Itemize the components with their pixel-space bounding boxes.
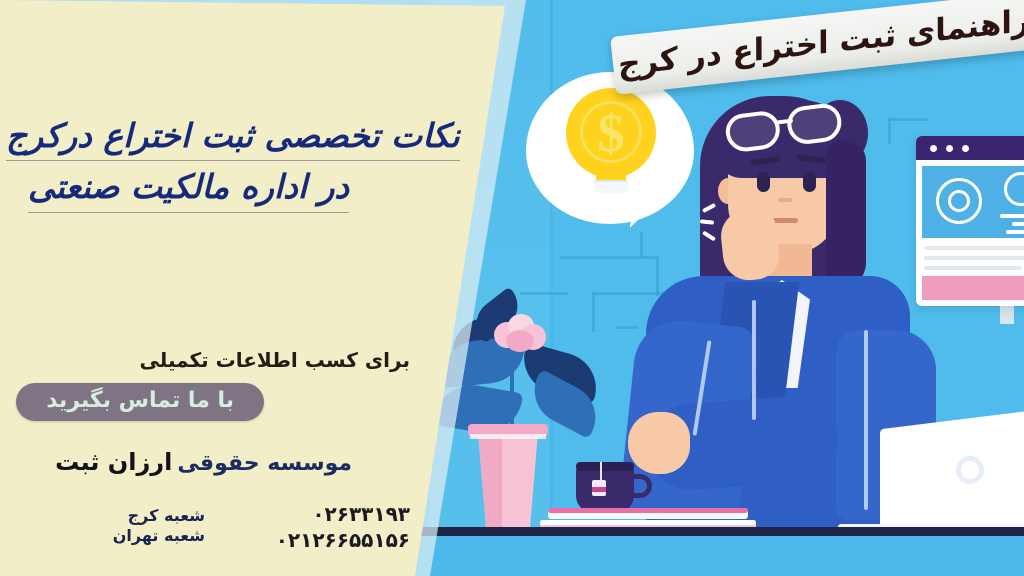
window-text-line xyxy=(924,266,1022,270)
window-text-line xyxy=(1000,214,1024,218)
blueprint-line xyxy=(520,292,568,295)
plant-pot-rim-highlight xyxy=(470,434,546,439)
window-text-line xyxy=(924,256,1024,260)
phone-tehran[interactable]: ۰۲۱۲۶۶۵۵۱۵۶ xyxy=(276,528,410,554)
blueprint-line xyxy=(640,232,643,258)
woman-eye-right xyxy=(803,172,816,192)
gear-icon-inner xyxy=(948,190,970,212)
jacket-seam xyxy=(864,330,868,510)
lightbulb-icon: $ xyxy=(566,88,656,192)
window-text-line xyxy=(1006,230,1024,234)
window-accent-bar xyxy=(922,276,1024,300)
woman-hand-resting xyxy=(628,412,690,474)
browser-window-graphic xyxy=(916,136,1024,306)
blueprint-line xyxy=(592,292,595,332)
branch-label-karaj: شعبه کرج xyxy=(113,506,205,526)
woman-eye-left xyxy=(757,172,770,192)
blueprint-line xyxy=(888,118,891,144)
window-dot-icon xyxy=(930,145,937,152)
cta-subtitle: برای کسب اطلاعات تکمیلی xyxy=(140,348,410,372)
brand-prefix: موسسه حقوقی xyxy=(177,451,352,476)
desk-floor xyxy=(392,536,1024,576)
window-text-line xyxy=(1012,222,1024,226)
window-text-line xyxy=(924,246,1024,250)
brand-name: ارزان ثبت xyxy=(55,448,172,476)
contact-us-button[interactable]: با ما تماس بگیرید xyxy=(16,383,264,421)
window-hero-area xyxy=(922,166,1024,238)
book-edge xyxy=(540,520,756,525)
jacket-seam xyxy=(752,300,756,420)
branch-labels: شعبه کرج شعبه تهران xyxy=(113,506,205,545)
dollar-symbol: $ xyxy=(566,88,656,178)
window-dot-icon xyxy=(946,145,953,152)
tea-bag-string xyxy=(600,462,602,482)
window-dot-icon xyxy=(962,145,969,152)
woman-hair-side xyxy=(826,140,866,290)
blueprint-line xyxy=(616,326,638,329)
phone-karaj[interactable]: ۰۲۶۳۳۱۹۳ xyxy=(276,502,410,528)
branch-label-tehran: شعبه تهران xyxy=(113,526,205,546)
coffee-cup-rim xyxy=(576,462,634,471)
speech-bubble-tail xyxy=(630,194,660,231)
brand-block: موسسه حقوقی ارزان ثبت xyxy=(55,448,352,476)
headline-line-2: در اداره مالکیت صنعتی xyxy=(28,167,349,212)
blueprint-line xyxy=(888,118,928,121)
gear-icon xyxy=(1004,172,1024,206)
laptop-logo-icon xyxy=(956,456,984,484)
poster-canvas: $ xyxy=(0,0,1024,576)
book-edge xyxy=(548,508,748,513)
desk-surface-line xyxy=(392,527,1024,536)
blueprint-line xyxy=(656,256,659,296)
phone-numbers: ۰۲۶۳۳۱۹۳ ۰۲۱۲۶۶۵۵۱۵۶ xyxy=(276,502,410,553)
headline-line-1: نکات تخصصی ثبت اختراع درکرج xyxy=(6,116,460,161)
contact-us-button-label: با ما تماس بگیرید xyxy=(46,388,234,413)
woman-mouth xyxy=(772,218,798,223)
plant-flower xyxy=(494,314,546,354)
left-panel-content: نکات تخصصی ثبت اختراع درکرج در اداره مال… xyxy=(0,0,470,576)
woman-nose xyxy=(778,198,792,202)
tea-bag-tag xyxy=(592,480,606,496)
headline-block: نکات تخصصی ثبت اختراع درکرج در اداره مال… xyxy=(6,116,454,213)
